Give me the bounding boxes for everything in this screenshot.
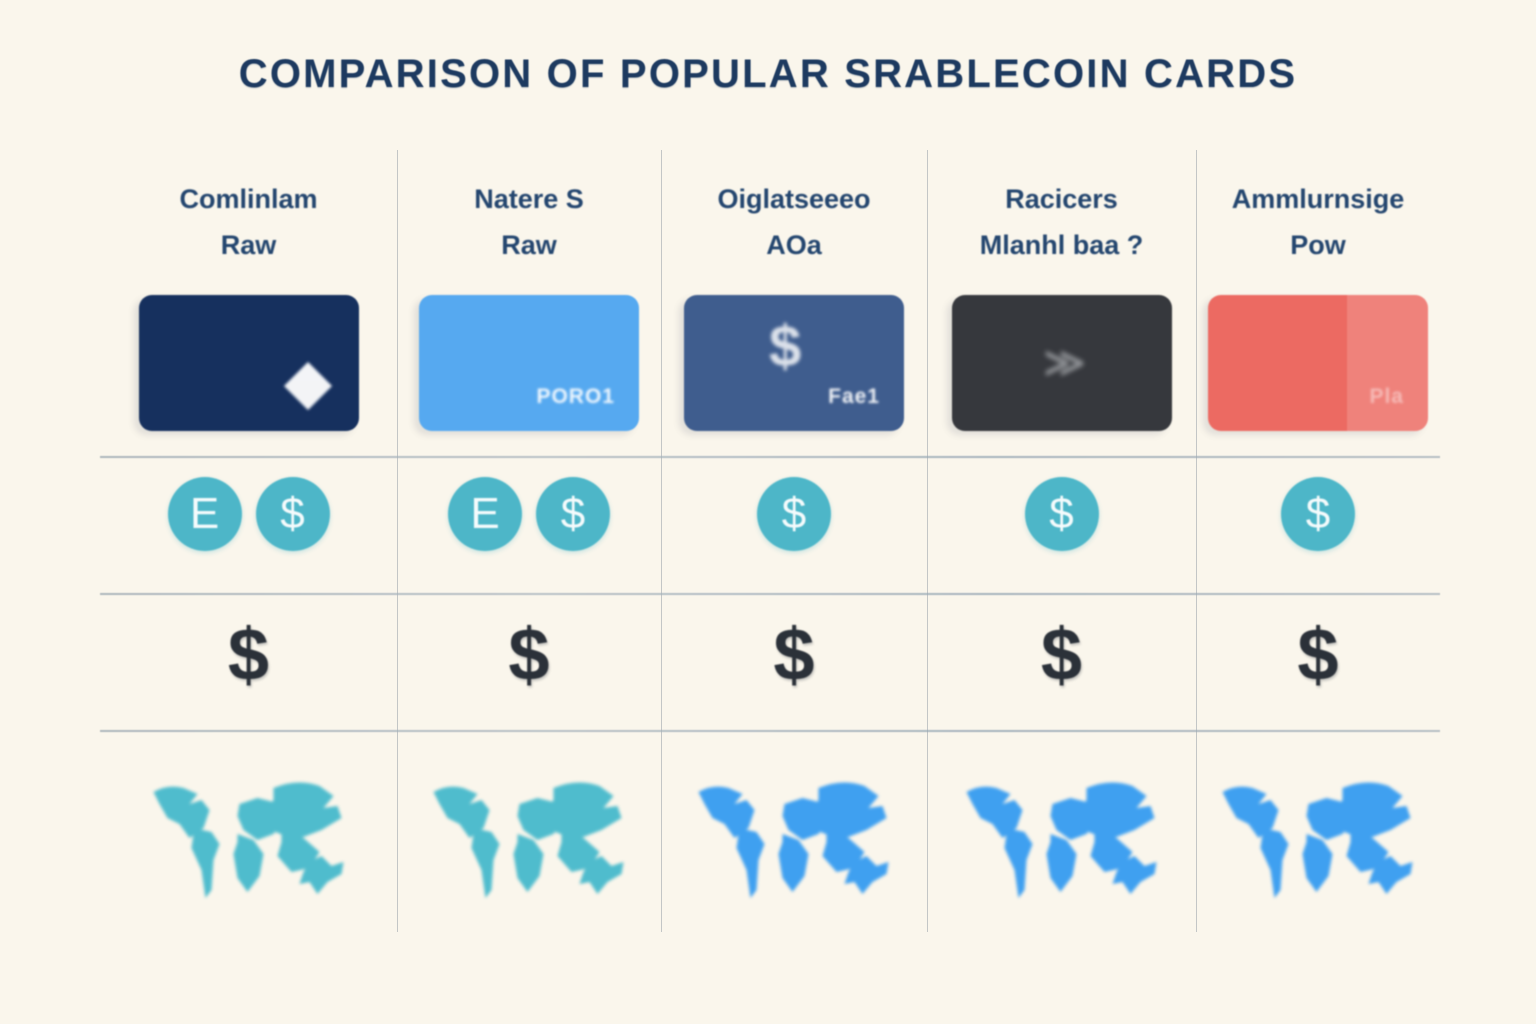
supported-coins: E $ (397, 477, 661, 551)
page-title: Comparison of Popular Srablecoin Cards (0, 52, 1536, 97)
fee-symbol: $ (1196, 612, 1440, 697)
column-header: Oiglatseeeo AOa (661, 176, 927, 268)
card-graphic[interactable]: PORO1 (419, 295, 639, 431)
column-header-line1: Comlinlam (179, 184, 317, 214)
coin-badge: $ (256, 477, 330, 551)
availability-map (687, 770, 902, 900)
card-graphic[interactable]: $ Fae1 (684, 295, 904, 431)
dollar-sign-icon: $ (769, 313, 801, 380)
supported-coins: $ (661, 477, 927, 551)
supported-coins: E $ (100, 477, 397, 551)
comparison-column[interactable]: Comlinlam Raw E $ $ (100, 150, 397, 932)
column-header: Comlinlam Raw (100, 176, 397, 268)
world-map-icon (1211, 770, 1426, 900)
chevron-logo-icon: ≫ (1044, 340, 1080, 386)
column-header: Ammlurnsige Pow (1196, 176, 1440, 268)
coin-badge: $ (1281, 477, 1355, 551)
comparison-column[interactable]: Racicers Mlanhl baa ? ≫ $ $ (927, 150, 1196, 932)
column-header-line1: Ammlurnsige (1232, 184, 1405, 214)
availability-map (1211, 770, 1426, 900)
world-map-icon (422, 770, 637, 900)
comparison-column[interactable]: Ammlurnsige Pow Pla $ $ (1196, 150, 1440, 932)
coin-badge: E (168, 477, 242, 551)
card-graphic[interactable]: Pla (1208, 295, 1428, 431)
comparison-table: Comlinlam Raw E $ $ (100, 150, 1440, 932)
diamond-logo-icon (283, 362, 331, 410)
world-map-icon (687, 770, 902, 900)
fee-symbol: $ (100, 612, 397, 697)
card-brand-text: Pla (1369, 385, 1404, 409)
availability-map (422, 770, 637, 900)
column-header-line2: Raw (405, 222, 653, 268)
coin-badge: E (448, 477, 522, 551)
card-split-panel (1347, 295, 1428, 431)
card-graphic[interactable] (139, 295, 359, 431)
column-header: Natere S Raw (397, 176, 661, 268)
column-header-line1: Natere S (474, 184, 584, 214)
availability-map (954, 770, 1169, 900)
card-brand-text: PORO1 (536, 385, 615, 409)
column-header-line2: Raw (108, 222, 389, 268)
column-header-line2: Pow (1204, 222, 1432, 268)
supported-coins: $ (927, 477, 1196, 551)
card-brand-text: Fae1 (828, 385, 880, 409)
card-graphic[interactable]: ≫ (952, 295, 1172, 431)
comparison-column[interactable]: Natere S Raw PORO1 E $ $ (397, 150, 661, 932)
coin-badge: $ (1025, 477, 1099, 551)
coin-badge: $ (536, 477, 610, 551)
world-map-icon (954, 770, 1169, 900)
column-header-line1: Racicers (1005, 184, 1118, 214)
column-header-line2: Mlanhl baa ? (935, 222, 1188, 268)
fee-symbol: $ (661, 612, 927, 697)
fee-symbol: $ (927, 612, 1196, 697)
supported-coins: $ (1196, 477, 1440, 551)
column-header: Racicers Mlanhl baa ? (927, 176, 1196, 268)
comparison-column[interactable]: Oiglatseeeo AOa $ Fae1 $ $ (661, 150, 927, 932)
column-header-line2: AOa (669, 222, 919, 268)
fee-symbol: $ (397, 612, 661, 697)
coin-badge: $ (757, 477, 831, 551)
world-map-icon (141, 770, 356, 900)
column-header-line1: Oiglatseeeo (717, 184, 870, 214)
availability-map (141, 770, 356, 900)
